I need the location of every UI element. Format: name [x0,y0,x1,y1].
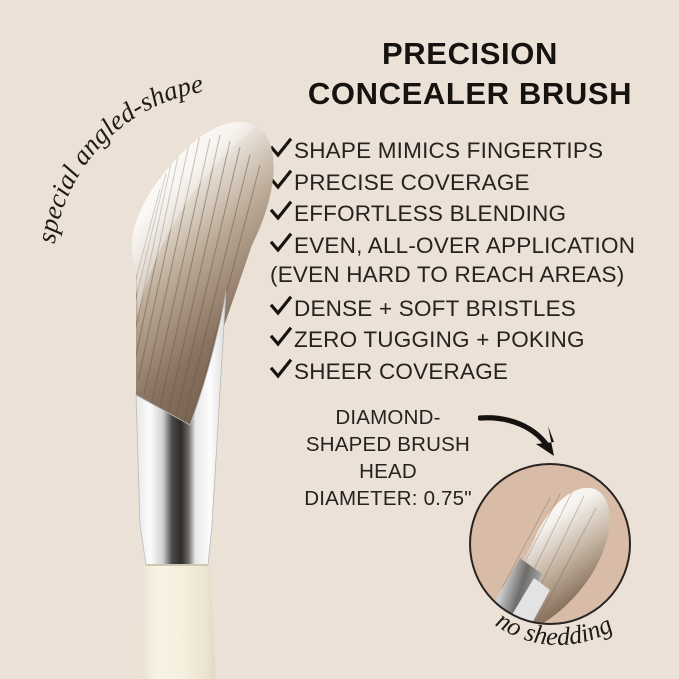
title-line-2: CONCEALER BRUSH [268,74,672,114]
title-line-1: PRECISION [268,34,672,74]
list-item-label: SHEER COVERAGE [294,359,508,385]
brush-bristles [130,122,274,425]
brush-illustration [40,95,300,679]
list-item: EVEN, ALL-OVER APPLICATION [270,231,676,263]
feature-list: SHAPE MIMICS FINGERTIPS PRECISE COVERAGE… [270,136,676,388]
list-item-label: EFFORTLESS BLENDING [294,201,566,227]
list-item: EFFORTLESS BLENDING [270,199,676,231]
product-title: PRECISION CONCEALER BRUSH [268,34,672,114]
list-item-label: ZERO TUGGING + POKING [294,327,585,353]
list-item-continuation: (EVEN HARD TO REACH AREAS) [270,262,676,294]
list-item-label: SHAPE MIMICS FINGERTIPS [294,138,603,164]
list-item: SHEER COVERAGE [270,357,676,389]
list-item: SHAPE MIMICS FINGERTIPS [270,136,676,168]
infographic-canvas: PRECISION CONCEALER BRUSH SHAPE MIMICS F… [0,0,679,679]
list-item-label: DENSE + SOFT BRISTLES [294,296,576,322]
list-item-label: PRECISE COVERAGE [294,170,530,196]
list-item: ZERO TUGGING + POKING [270,325,676,357]
caption-line-1: DIAMOND- [272,404,504,431]
list-item-label: (EVEN HARD TO REACH AREAS) [270,262,624,288]
brush-head-closeup-inset [468,462,633,627]
caption-line-2: SHAPED BRUSH [272,431,504,458]
list-item: PRECISE COVERAGE [270,168,676,200]
brush-handle [140,565,216,679]
list-item-label: EVEN, ALL-OVER APPLICATION [294,233,635,259]
list-item: DENSE + SOFT BRISTLES [270,294,676,326]
